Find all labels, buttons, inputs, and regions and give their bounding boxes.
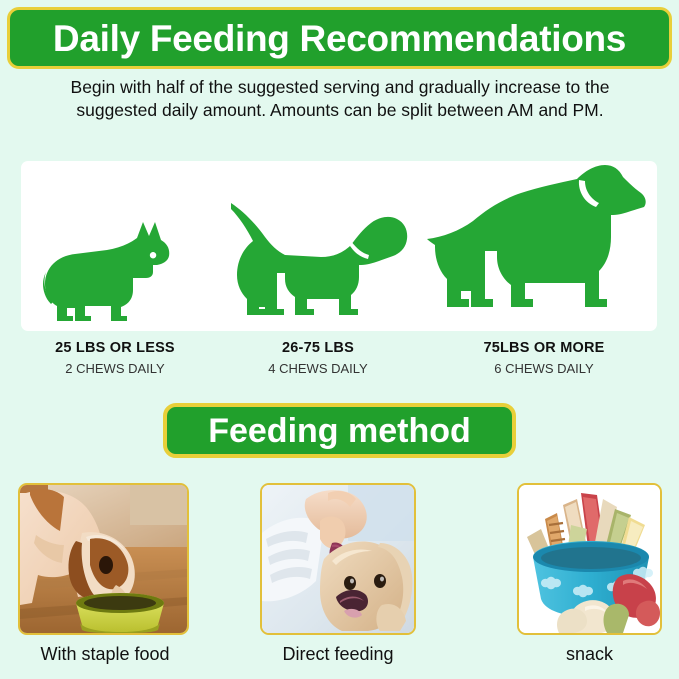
caption-direct-feeding: Direct feeding xyxy=(258,644,418,665)
weight-label: 26-75 LBS xyxy=(208,340,428,356)
intro-paragraph: Begin with half of the suggested serving… xyxy=(40,76,640,123)
size-column-large: 75LBS OR MORE 6 CHEWS DAILY xyxy=(422,340,666,376)
bowl-of-dog-chews-photo xyxy=(519,485,660,633)
caption-staple-food: With staple food xyxy=(0,644,210,665)
medium-dog-icon xyxy=(229,181,409,321)
size-column-medium: 26-75 LBS 4 CHEWS DAILY xyxy=(208,340,428,376)
small-dog-icon xyxy=(41,216,171,321)
method-card-direct-feeding[interactable] xyxy=(260,483,416,635)
method-card-snack[interactable] xyxy=(517,483,662,635)
size-label-row: 25 LBS OR LESS 2 CHEWS DAILY 26-75 LBS 4… xyxy=(0,340,679,385)
page-title: Daily Feeding Recommendations xyxy=(53,20,626,57)
weight-label: 25 LBS OR LESS xyxy=(10,340,220,356)
dog-size-panel xyxy=(21,161,657,331)
size-column-small: 25 LBS OR LESS 2 CHEWS DAILY xyxy=(10,340,220,376)
feeding-method-title: Feeding method xyxy=(208,414,471,448)
title-banner: Daily Feeding Recommendations xyxy=(7,7,672,69)
hand-feeding-poodle-photo xyxy=(262,485,414,633)
method-card-staple-food[interactable] xyxy=(18,483,189,635)
dog-eating-from-bowl-photo xyxy=(20,485,187,633)
feeding-method-banner: Feeding method xyxy=(163,403,516,458)
caption-snack: snack xyxy=(517,644,662,665)
amount-label: 2 CHEWS DAILY xyxy=(10,361,220,376)
weight-label: 75LBS OR MORE xyxy=(422,340,666,356)
infographic-page: Daily Feeding Recommendations Begin with… xyxy=(0,0,679,679)
large-dog-icon xyxy=(425,159,647,321)
amount-label: 4 CHEWS DAILY xyxy=(208,361,428,376)
amount-label: 6 CHEWS DAILY xyxy=(422,361,666,376)
